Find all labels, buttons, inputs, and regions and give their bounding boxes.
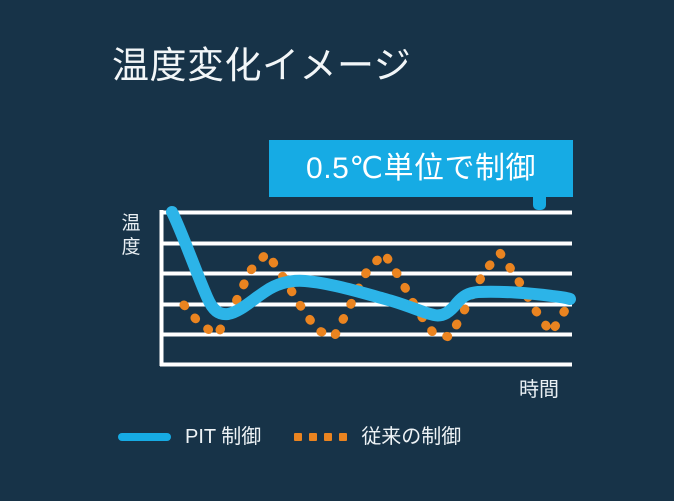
callout-pointer-tail xyxy=(533,196,546,210)
temperature-change-figure: 温度変化イメージ 0.5℃単位で制御 温度 時間 PIT 制御 xyxy=(0,0,674,501)
x-axis-label: 時間 xyxy=(519,378,559,402)
legend-label-conventional-control: 従来の制御 xyxy=(361,425,461,449)
callout-label: 0.5℃単位で制御 xyxy=(306,152,536,186)
solid-line-swatch-icon xyxy=(118,433,171,441)
legend-item-pit-control: PIT 制御 xyxy=(118,425,261,449)
legend-label-pit-control: PIT 制御 xyxy=(185,425,261,449)
y-axis-label: 温度 xyxy=(118,212,144,260)
legend-item-conventional-control: 従来の制御 xyxy=(294,425,461,449)
chart-legend: PIT 制御 従来の制御 xyxy=(118,420,461,454)
callout-bubble: 0.5℃単位で制御 xyxy=(269,140,573,197)
dotted-line-swatch-icon xyxy=(294,433,347,441)
